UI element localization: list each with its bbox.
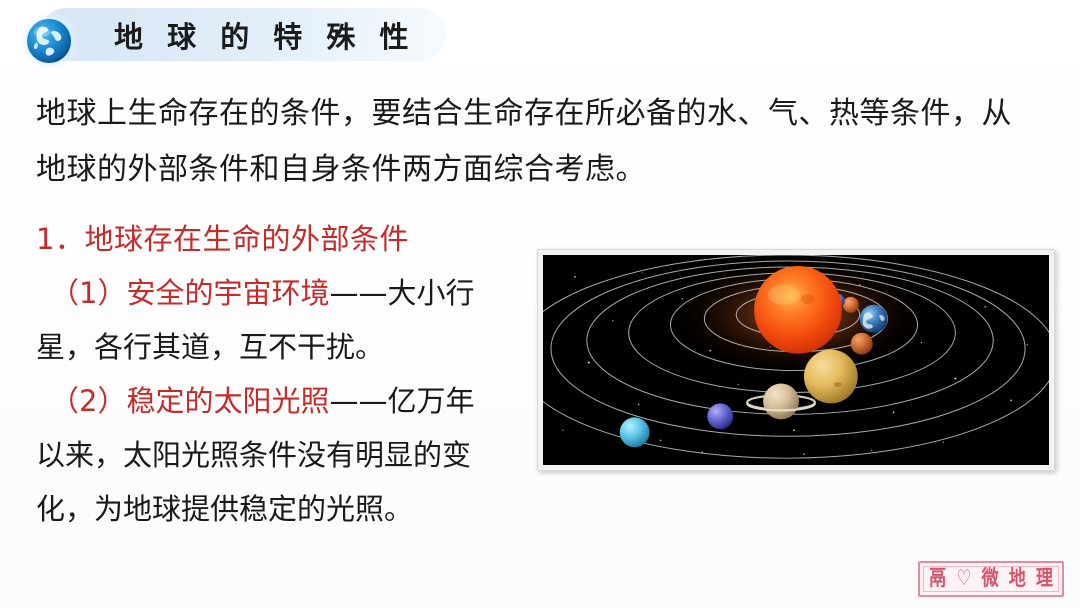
watermark-inner-border: 鬲 ♡ 微 地 理 [923,566,1059,592]
content-column-left: 1．地球存在生命的外部条件 （1）安全的宇宙环境——大小行 星，各行其道，互不干… [36,212,536,536]
solar-system-figure [537,249,1055,471]
section-heading: 1．地球存在生命的外部条件 [36,212,536,266]
intro-paragraph: 地球上生命存在的条件，要结合生命存在所必备的水、气、热等条件，从地球的外部条件和… [36,86,1036,198]
watermark-glyph-4: 地 [1009,568,1026,589]
globe-icon [18,10,80,72]
watermark-stamp: 鬲 ♡ 微 地 理 [918,561,1064,597]
solar-system-canvas [543,255,1049,465]
planet-mars [851,333,873,355]
point-1-line-2: 星，各行其道，互不干扰。 [36,320,536,374]
point-2-line-3: 化，为地球提供稳定的光照。 [36,482,536,536]
watermark-glyph-3: 微 [982,568,999,589]
watermark-glyph-1: 鬲 [929,568,946,589]
watermark-glyph-2: ♡ [956,568,971,589]
slide-root: 地 球 的 特 殊 性 地球上生命存在的条件，要结合生命存在所必备的水、气、热等… [0,0,1080,608]
solar-system-illustration [543,255,1049,465]
planet-venus [843,297,859,313]
planet-neptune [707,403,733,429]
title-banner: 地 球 的 特 殊 性 [18,6,446,63]
point-2-body-a: ——亿万年 [329,384,474,418]
point-1-body-a: ——大小行 [329,276,474,310]
point-2-line-2: 以来，太阳光照条件没有明显的变 [36,428,536,482]
planet-jupiter [804,350,858,404]
sun [754,266,842,354]
point-2-label: （2）稳定的太阳光照 [50,384,329,418]
point-1-line-1: （1）安全的宇宙环境——大小行 [36,266,536,320]
planet-uranus [620,417,650,447]
point-1-label: （1）安全的宇宙环境 [50,276,329,310]
page-title: 地 球 的 特 殊 性 [114,15,444,59]
point-2-line-1: （2）稳定的太阳光照——亿万年 [36,374,536,428]
planet-earth [860,305,888,333]
watermark-glyph-5: 理 [1036,568,1053,589]
